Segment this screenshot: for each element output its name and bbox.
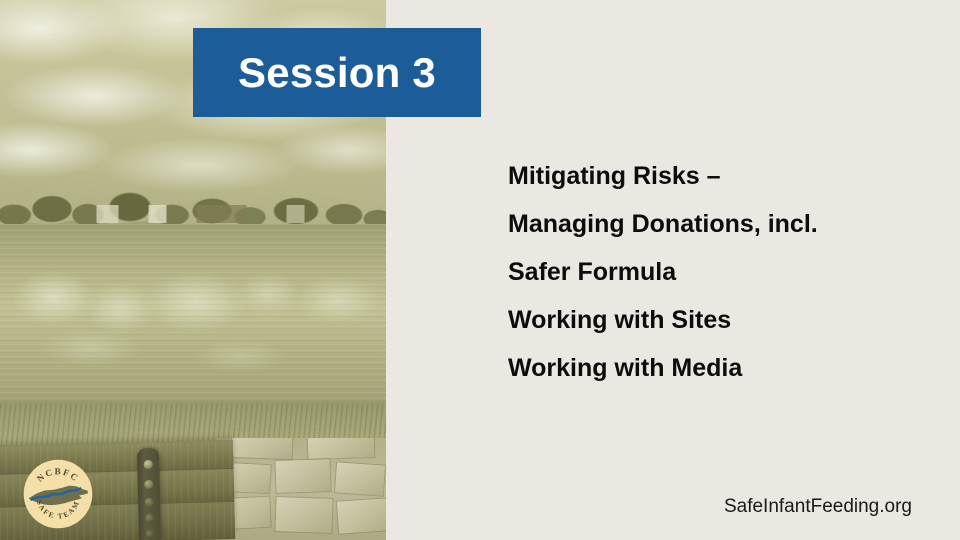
stone-slab bbox=[232, 438, 293, 459]
stone-slab bbox=[335, 462, 385, 495]
bolt-icon bbox=[144, 480, 153, 489]
stone-path bbox=[216, 438, 386, 540]
stone-slab bbox=[275, 497, 332, 533]
stone-slab bbox=[308, 438, 375, 459]
bolt-icon bbox=[145, 514, 154, 523]
session-topics: Mitigating Risks – Managing Donations, i… bbox=[508, 152, 938, 392]
topic-line-5: Working with Media bbox=[508, 344, 938, 392]
topic-line-4: Working with Sites bbox=[508, 296, 938, 344]
shoreline-buildings bbox=[0, 205, 386, 223]
session-banner-label: Session 3 bbox=[238, 52, 436, 94]
session-banner: Session 3 bbox=[193, 28, 481, 117]
bolt-icon bbox=[145, 530, 154, 539]
stone-slab bbox=[337, 498, 386, 533]
bolt-icon bbox=[144, 460, 153, 469]
topic-line-3: Safer Formula bbox=[508, 248, 938, 296]
topic-line-1: Mitigating Risks – bbox=[508, 152, 938, 200]
stone-slab bbox=[275, 459, 330, 493]
ncbfc-safe-team-logo: NCBFC SAFE TEAM bbox=[23, 459, 93, 529]
bench-metal-bracket bbox=[137, 448, 161, 540]
website-url[interactable]: SafeInfantFeeding.org bbox=[724, 496, 912, 518]
topic-line-2: Managing Donations, incl. bbox=[508, 200, 938, 248]
bolt-icon bbox=[145, 498, 154, 507]
slide-canvas: Mitigating Risks – Managing Donations, i… bbox=[0, 0, 960, 540]
